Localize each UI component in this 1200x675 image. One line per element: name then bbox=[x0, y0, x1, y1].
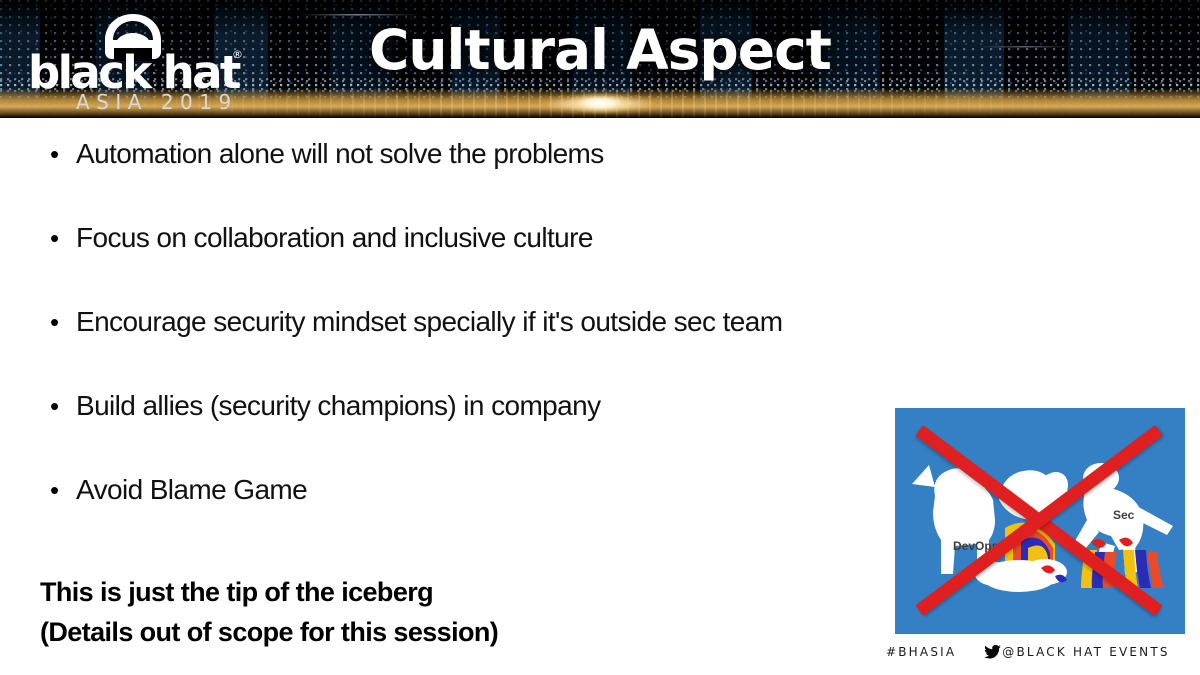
unicorn-label-sec: Sec bbox=[1113, 508, 1134, 522]
event-hashtag: #BHASIA bbox=[886, 645, 956, 659]
logo-subtitle: ASIA 2019 bbox=[76, 90, 238, 114]
list-item-label: Build allies (security champions) in com… bbox=[76, 386, 924, 426]
slide-footer: #BHASIA @BLACK HAT EVENTS bbox=[886, 641, 1196, 663]
list-item: • Encourage security mindset specially i… bbox=[44, 302, 924, 386]
slide-canvas: black hat ® ASIA 2019 Cultural Aspect • … bbox=[0, 0, 1200, 675]
bullet-list: • Automation alone will not solve the pr… bbox=[44, 134, 924, 554]
list-item-label: Encourage security mindset specially if … bbox=[76, 302, 924, 342]
closing-note-line-1: This is just the tip of the iceberg bbox=[40, 572, 680, 612]
bullet-marker-icon: • bbox=[44, 302, 76, 342]
bullet-marker-icon: • bbox=[44, 386, 76, 426]
list-item: • Focus on collaboration and inclusive c… bbox=[44, 218, 924, 302]
list-item: • Automation alone will not solve the pr… bbox=[44, 134, 924, 218]
twitter-bird-icon bbox=[984, 645, 1001, 659]
bullet-marker-icon: • bbox=[44, 470, 76, 510]
slide-banner: black hat ® ASIA 2019 Cultural Aspect bbox=[0, 0, 1200, 118]
closing-note: This is just the tip of the iceberg (Det… bbox=[40, 572, 680, 652]
devops-sec-unicorn-image: DevOps Sec bbox=[895, 408, 1185, 634]
twitter-handle: @BLACK HAT EVENTS bbox=[1002, 645, 1169, 659]
closing-note-line-2: (Details out of scope for this session) bbox=[40, 612, 680, 652]
bullet-marker-icon: • bbox=[44, 218, 76, 258]
bullet-marker-icon: • bbox=[44, 134, 76, 174]
list-item: • Build allies (security champions) in c… bbox=[44, 386, 924, 470]
list-item-label: Avoid Blame Game bbox=[76, 470, 924, 510]
list-item-label: Focus on collaboration and inclusive cul… bbox=[76, 218, 924, 258]
list-item: • Avoid Blame Game bbox=[44, 470, 924, 554]
page-title: Cultural Aspect bbox=[0, 18, 1200, 82]
list-item-label: Automation alone will not solve the prob… bbox=[76, 134, 924, 174]
